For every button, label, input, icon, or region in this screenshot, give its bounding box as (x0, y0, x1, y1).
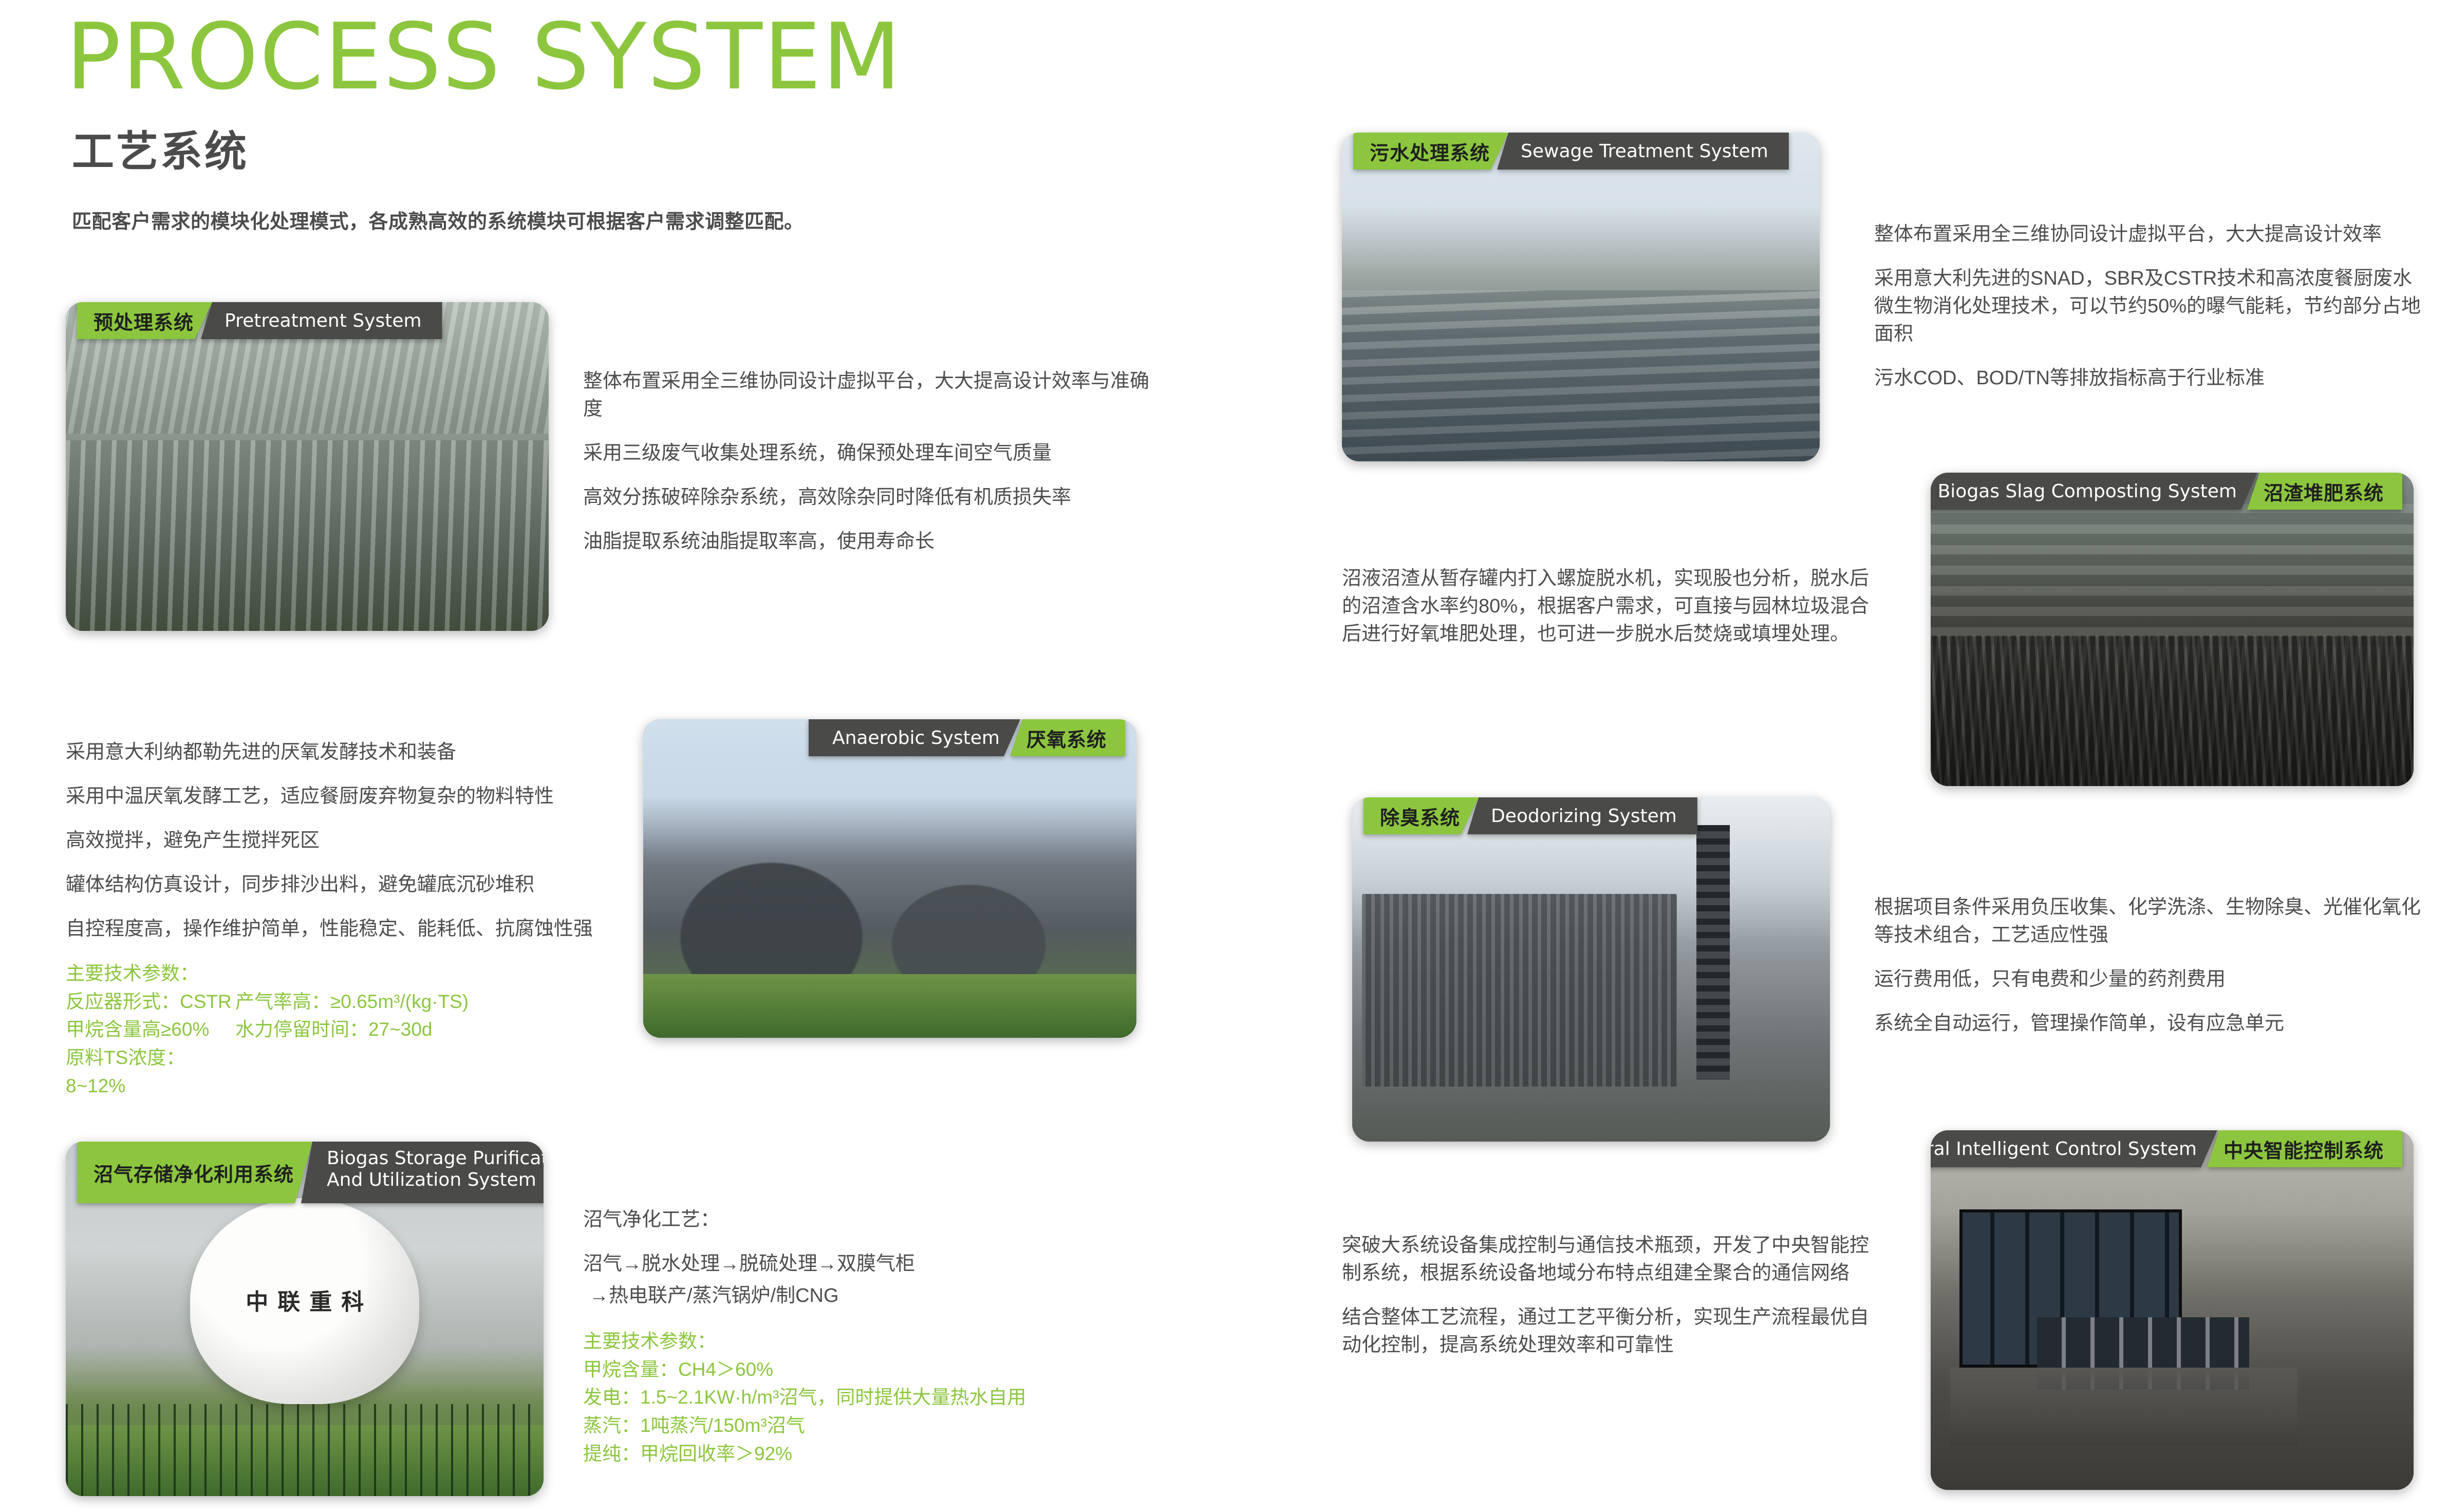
sewage-bullet: 采用意大利先进的SNAD，SBR及CSTR技术和高浓度餐厨废水微生物消化处理技术… (1874, 265, 2424, 348)
sewage-label-en: Sewage Treatment System (1497, 133, 1789, 170)
sewage-caption-ribbon: 污水处理系统 Sewage Treatment System (1353, 133, 1789, 170)
page-title-cn: 工艺系统 (72, 131, 249, 173)
anaerobic-param-row: 反应器形式：CSTR 产气率高：≥0.65m³/(kg·TS) (66, 988, 626, 1016)
deodorizing-bullet: 根据项目条件采用负压收集、化学洗涤、生物除臭、光催化氧化等技术组合，工艺适应性强 (1874, 894, 2424, 949)
anaerobic-bullet: 高效搅拌，避免产生搅拌死区 (66, 827, 626, 855)
deodorizing-caption-ribbon: 除臭系统 Deodorizing System (1363, 797, 1697, 834)
control-caption-ribbon: Central Intelligent Control System 中央智能控… (1931, 1130, 2402, 1167)
photo-detail-pipes (66, 440, 549, 631)
biogas-storage-caption-ribbon: 沼气存储净化利用系统 Biogas Storage Purification A… (77, 1142, 544, 1203)
deodorizing-label-en: Deodorizing System (1467, 797, 1697, 834)
pretreatment-bullet: 高效分拣破碎除杂系统，高效除杂同时降低有机质损失率 (583, 484, 1153, 512)
deodorizing-text-block: 根据项目条件采用负压收集、化学洗涤、生物除臭、光催化氧化等技术组合，工艺适应性强… (1874, 894, 2424, 1038)
control-photo-card: Central Intelligent Control System 中央智能控… (1931, 1130, 2414, 1490)
deodorizing-photo-card: 除臭系统 Deodorizing System (1352, 797, 1830, 1142)
process-system-page: PROCESS SYSTEM 工艺系统 匹配客户需求的模块化处理模式，各成熟高效… (0, 0, 2447, 1512)
anaerobic-param-row: 原料TS浓度：8~12% (66, 1044, 626, 1100)
anaerobic-parameters: 主要技术参数： 反应器形式：CSTR 产气率高：≥0.65m³/(kg·TS) … (66, 960, 626, 1100)
control-bullet: 突破大系统设备集成控制与通信技术瓶颈，开发了中央智能控制系统，根据系统设备地域分… (1342, 1232, 1886, 1287)
composting-photo-card: Biogas Slag Composting System 沼渣堆肥系统 (1931, 473, 2414, 786)
pretreatment-bullet: 油脂提取系统油脂提取率高，使用寿命长 (583, 528, 1153, 556)
composting-caption-ribbon: Biogas Slag Composting System 沼渣堆肥系统 (1931, 473, 2402, 510)
photo-detail-building (1362, 894, 1677, 1087)
biogas-param: 发电：1.5~2.1KW·h/m³沼气，同时提供大量热水自用 (583, 1384, 1138, 1412)
anaerobic-caption-ribbon: Anaerobic System 厌氧系统 (809, 719, 1125, 756)
sewage-bullet: 污水COD、BOD/TN等排放指标高于行业标准 (1874, 365, 2424, 393)
param-cell: 原料TS浓度：8~12% (66, 1044, 235, 1100)
photo-detail-scrubber-tower (1696, 825, 1730, 1080)
biogas-storage-photo-card: 中联重科 沼气存储净化利用系统 Biogas Storage Purificat… (66, 1142, 544, 1496)
pretreatment-bullet: 整体布置采用全三维协同设计虚拟平台，大大提高设计效率与准确度 (583, 368, 1153, 423)
biogas-process-line2: →热电联产/蒸汽锅炉/制CNG (589, 1282, 1138, 1310)
biogas-storage-label-en-line2: And Utilization System (327, 1169, 544, 1191)
biogas-param: 甲烷含量：CH4＞60% (583, 1356, 1138, 1384)
pretreatment-label-en: Pretreatment System (201, 302, 442, 339)
biogas-storage-label-en: Biogas Storage Purification And Utilizat… (301, 1142, 544, 1203)
anaerobic-text-block: 采用意大利纳都勒先进的厌氧发酵技术和装备 采用中温厌氧发酵工艺，适应餐厨废弃物复… (66, 739, 626, 1100)
biogas-params-title: 主要技术参数： (583, 1328, 1138, 1356)
param-cell: 水力停留时间：27~30d (235, 1016, 626, 1044)
photo-detail-digester-tanks (643, 815, 1136, 990)
sewage-text-block: 整体布置采用全三维协同设计虚拟平台，大大提高设计效率 采用意大利先进的SNAD，… (1874, 221, 2424, 393)
param-cell (235, 1044, 626, 1100)
biogas-storage-text-block: 沼气净化工艺： 沼气→脱水处理→脱硫处理→双膜气柜 →热电联产/蒸汽锅炉/制CN… (583, 1206, 1138, 1468)
deodorizing-label-cn: 除臭系统 (1363, 797, 1479, 834)
anaerobic-label-cn: 厌氧系统 (1010, 719, 1125, 756)
biogas-process-title: 沼气净化工艺： (583, 1206, 1138, 1234)
photo-detail-water (1342, 290, 1820, 461)
control-text-block: 突破大系统设备集成控制与通信技术瓶颈，开发了中央智能控制系统，根据系统设备地域分… (1342, 1232, 1886, 1359)
biogas-parameters: 主要技术参数： 甲烷含量：CH4＞60% 发电：1.5~2.1KW·h/m³沼气… (583, 1328, 1138, 1468)
param-cell: 甲烷含量高≥60% (66, 1016, 235, 1044)
anaerobic-bullet: 采用中温厌氧发酵工艺，适应餐厨废弃物复杂的物料特性 (66, 783, 626, 811)
control-bullet: 结合整体工艺流程，通过工艺平衡分析，实现生产流程最优自动化控制，提高系统处理效率… (1342, 1304, 1886, 1359)
anaerobic-photo (643, 719, 1136, 1038)
anaerobic-photo-card: Anaerobic System 厌氧系统 (643, 719, 1136, 1038)
page-subtitle: 匹配客户需求的模块化处理模式，各成熟高效的系统模块可根据客户需求调整匹配。 (72, 206, 804, 234)
composting-bullet: 沼液沼渣从暂存罐内打入螺旋脱水机，实现股也分析，脱水后的沼渣含水率约80%，根据… (1342, 565, 1876, 648)
control-photo (1931, 1130, 2414, 1490)
sewage-photo (1342, 133, 1820, 461)
pretreatment-photo (66, 302, 549, 631)
deodorizing-bullet: 系统全自动运行，管理操作简单，设有应急单元 (1874, 1010, 2424, 1038)
biogas-storage-label-cn: 沼气存储净化利用系统 (77, 1142, 312, 1203)
anaerobic-params-title: 主要技术参数： (66, 960, 626, 988)
dome-brand-text: 中联重科 (228, 1283, 390, 1316)
pretreatment-photo-card: 预处理系统 Pretreatment System (66, 302, 549, 631)
photo-detail-hall (1931, 504, 2414, 645)
photo-detail-compost-heap (1931, 636, 2414, 786)
composting-label-en: Biogas Slag Composting System (1931, 473, 2257, 510)
anaerobic-param-row: 甲烷含量高≥60% 水力停留时间：27~30d (66, 1016, 626, 1044)
sewage-photo-card: 污水处理系统 Sewage Treatment System (1342, 133, 1820, 461)
photo-detail-console-desk (1950, 1368, 2298, 1447)
photo-detail-grass (643, 974, 1136, 1038)
pretreatment-caption-ribbon: 预处理系统 Pretreatment System (77, 302, 442, 339)
biogas-storage-label-en-line1: Biogas Storage Purification (327, 1148, 544, 1169)
deodorizing-photo (1352, 797, 1830, 1142)
pretreatment-bullet: 采用三级废气收集处理系统，确保预处理车间空气质量 (583, 440, 1153, 468)
biogas-param: 提纯：甲烷回收率＞92% (583, 1440, 1138, 1468)
sewage-label-cn: 污水处理系统 (1353, 133, 1508, 170)
anaerobic-bullet: 自控程度高，操作维护简单，性能稳定、能耗低、抗腐蚀性强 (66, 916, 626, 943)
sewage-bullet: 整体布置采用全三维协同设计虚拟平台，大大提高设计效率 (1874, 221, 2424, 249)
anaerobic-label-en: Anaerobic System (809, 719, 1020, 756)
deodorizing-bullet: 运行费用低，只有电费和少量的药剂费用 (1874, 966, 2424, 994)
control-label-cn: 中央智能控制系统 (2207, 1130, 2402, 1167)
composting-text-block: 沼液沼渣从暂存罐内打入螺旋脱水机，实现股也分析，脱水后的沼渣含水率约80%，根据… (1342, 565, 1876, 648)
pretreatment-text-block: 整体布置采用全三维协同设计虚拟平台，大大提高设计效率与准确度 采用三级废气收集处… (583, 368, 1153, 556)
anaerobic-bullet: 采用意大利纳都勒先进的厌氧发酵技术和装备 (66, 739, 626, 767)
param-cell: 反应器形式：CSTR (66, 988, 235, 1016)
composting-photo (1931, 473, 2414, 786)
biogas-param: 蒸汽：1吨蒸汽/150m³沼气 (583, 1412, 1138, 1440)
pretreatment-label-cn: 预处理系统 (77, 302, 212, 339)
page-title-en: PROCESS SYSTEM (66, 11, 902, 103)
anaerobic-bullet: 罐体结构仿真设计，同步排沙出料，避免罐底沉砂堆积 (66, 871, 626, 899)
param-cell: 产气率高：≥0.65m³/(kg·TS) (235, 988, 626, 1016)
composting-label-cn: 沼渣堆肥系统 (2247, 473, 2402, 510)
control-label-en: Central Intelligent Control System (1931, 1130, 2217, 1167)
biogas-process-line1: 沼气→脱水处理→脱硫处理→双膜气柜 (583, 1250, 1138, 1278)
photo-detail-fence (66, 1404, 544, 1496)
